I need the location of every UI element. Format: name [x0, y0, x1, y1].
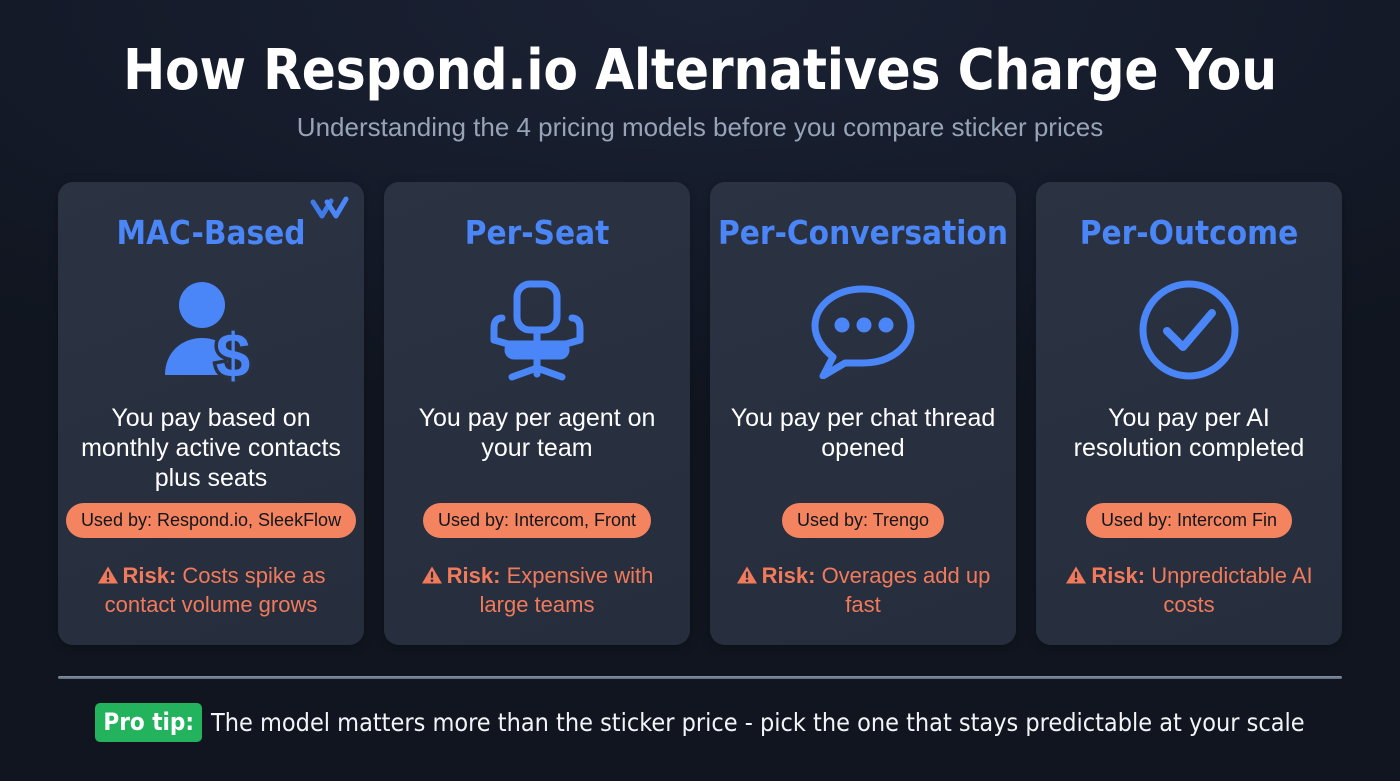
card-description: You pay per agent on your team [400, 403, 674, 463]
infographic-page: How Respond.io Alternatives Charge You U… [0, 0, 1400, 781]
check-circle-icon [1137, 269, 1241, 391]
used-by-badge: Used by: Respond.io, SleekFlow [66, 503, 356, 538]
card-title: MAC-Based [116, 215, 305, 251]
card-footer: Used by: Respond.io, SleekFlow Risk: Cos… [74, 503, 348, 645]
warning-triangle-icon [736, 565, 758, 585]
pricing-card-per-conversation[interactable]: Per-Conversation You pay per chat thread… [710, 182, 1016, 645]
warning-triangle-icon [97, 565, 119, 585]
risk-note: Risk: Expensive with large teams [401, 561, 673, 619]
card-description: You pay based on monthly active contacts… [74, 403, 348, 493]
chat-bubble-dots-icon [807, 269, 919, 391]
risk-text: Overages add up fast [822, 563, 991, 617]
page-title: How Respond.io Alternatives Charge You [0, 40, 1400, 103]
pro-tip-footer: Pro tip: The model matters more than the… [0, 703, 1400, 742]
pricing-card-mac-based[interactable]: MAC-Based $ $ $ You pay based on monthly… [58, 182, 364, 645]
risk-label: Risk: [1091, 563, 1145, 588]
svg-text:$: $ [216, 322, 250, 382]
footer-divider [58, 676, 1342, 679]
pricing-card-per-seat[interactable]: Per-Seat [384, 182, 690, 645]
card-title: Per-Conversation [718, 215, 1008, 251]
pricing-model-cards: MAC-Based $ $ $ You pay based on monthly… [58, 182, 1342, 645]
card-description: You pay per AI resolution completed [1052, 403, 1326, 463]
used-by-badge: Used by: Intercom, Front [423, 503, 651, 538]
card-description: You pay per chat thread opened [726, 403, 1000, 463]
risk-text: Expensive with large teams [480, 563, 654, 617]
warning-triangle-icon [1065, 565, 1087, 585]
page-subtitle: Understanding the 4 pricing models befor… [0, 112, 1400, 143]
used-by-badge: Used by: Trengo [782, 503, 944, 538]
risk-label: Risk: [123, 563, 177, 588]
office-chair-icon [484, 269, 590, 391]
double-check-icon [310, 196, 350, 224]
card-footer: Used by: Intercom, Front Risk: Expensive… [400, 503, 674, 645]
pricing-card-per-outcome[interactable]: Per-Outcome You pay per AI resolution co… [1036, 182, 1342, 645]
risk-label: Risk: [762, 563, 816, 588]
risk-note: Risk: Overages add up fast [727, 561, 999, 619]
card-footer: Used by: Trengo Risk: Overages add up fa… [726, 503, 1000, 645]
pro-tip-text: The model matters more than the sticker … [211, 708, 1305, 737]
risk-note: Risk: Costs spike as contact volume grow… [75, 561, 347, 619]
risk-note: Risk: Unpredictable AI costs [1053, 561, 1325, 619]
card-title: Per-Outcome [1080, 215, 1299, 251]
risk-text: Unpredictable AI costs [1151, 563, 1312, 617]
person-dollar-icon: $ $ $ [159, 269, 263, 391]
used-by-badge: Used by: Intercom Fin [1086, 503, 1292, 538]
risk-label: Risk: [447, 563, 501, 588]
warning-triangle-icon [421, 565, 443, 585]
header: How Respond.io Alternatives Charge You U… [0, 40, 1400, 143]
card-footer: Used by: Intercom Fin Risk: Unpredictabl… [1052, 503, 1326, 645]
pro-tip-badge: Pro tip: [95, 703, 202, 742]
card-title: Per-Seat [465, 215, 610, 251]
